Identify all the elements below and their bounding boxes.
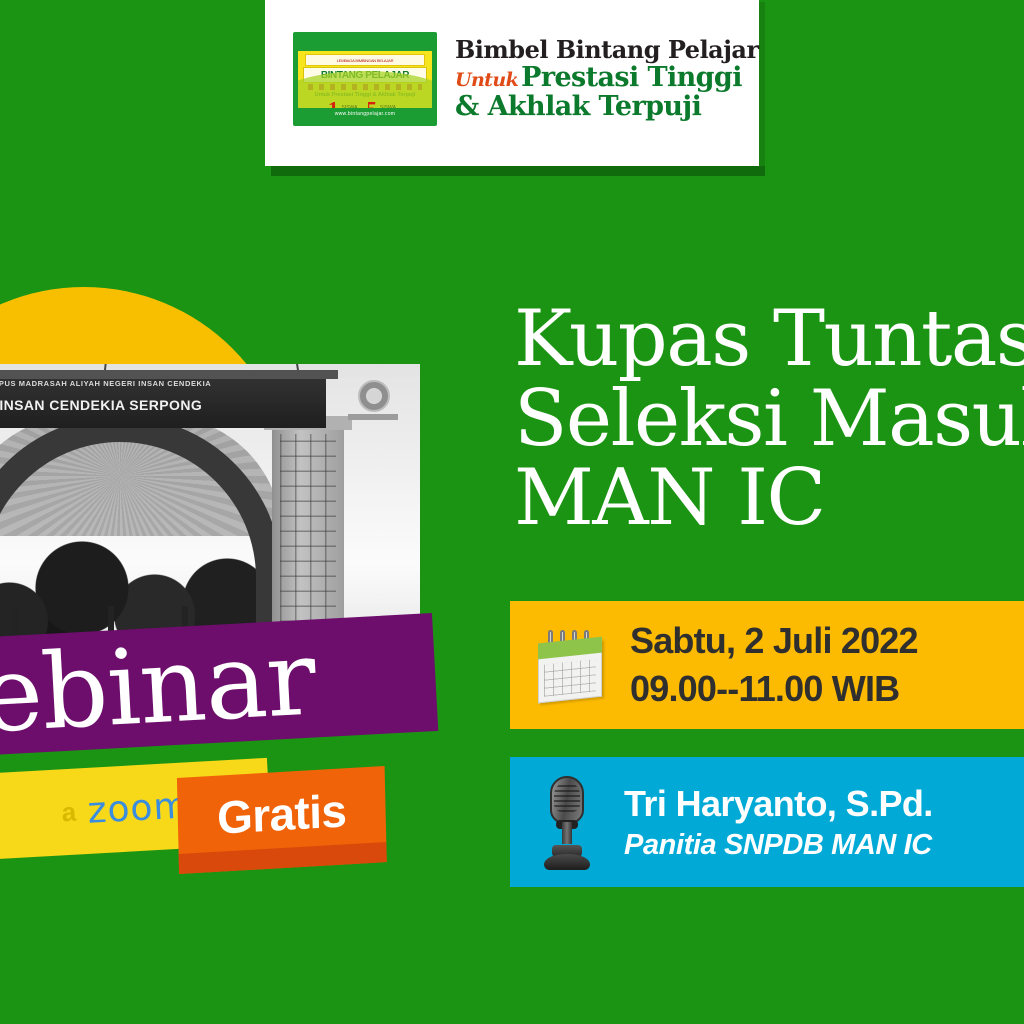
logo-top-band — [298, 37, 432, 51]
brand-header-card: LEMBAGA BIMBINGAN BELAJAR BINTANG PELAJA… — [265, 0, 759, 166]
speaker-name: Tri Haryanto, S.Pd. — [624, 783, 933, 825]
speaker-box: Tri Haryanto, S.Pd. Panitia SNPDB MAN IC — [510, 757, 1024, 887]
kemenag-emblem-icon — [358, 380, 390, 412]
calendar-icon — [534, 628, 606, 702]
photo-pillar-grid — [280, 434, 336, 622]
gratis-tag-shadow — [179, 842, 387, 874]
headline-line-3: MAN IC — [514, 459, 1024, 539]
event-date: Sabtu, 2 Juli 2022 — [630, 620, 918, 662]
brand-line-1: Bimbel Bintang Pelajar — [455, 37, 759, 63]
event-time: 09.00--11.00 WIB — [630, 668, 918, 710]
page-title: Kupas Tuntas Seleksi Masuk MAN IC — [514, 300, 1024, 539]
photo-emblem-base — [348, 414, 398, 420]
gate-main-text: MAN INSAN CENDEKIA SERPONG — [0, 397, 202, 413]
headline-line-1: Kupas Tuntas — [514, 300, 1024, 380]
gratis-tag: Gratis — [177, 766, 387, 874]
speaker-text: Tri Haryanto, S.Pd. Panitia SNPDB MAN IC — [624, 783, 933, 862]
date-time-box: Sabtu, 2 Juli 2022 09.00--11.00 WIB — [510, 601, 1024, 729]
zoom-wordmark: zoom — [86, 785, 190, 832]
mic-grille — [554, 782, 580, 812]
bintang-pelajar-logo-icon: LEMBAGA BIMBINGAN BELAJAR BINTANG PELAJA… — [293, 32, 437, 126]
headline-line-2: Seleksi Masuk — [514, 380, 1024, 460]
via-label: a — [61, 796, 77, 828]
gratis-label: Gratis — [216, 783, 346, 844]
brand-line-3: & Akhlak Terpuji — [455, 92, 759, 121]
webinar-banner: Webinar — [0, 613, 438, 764]
photo-lintel-cap — [0, 370, 338, 379]
gate-top-text: KAMPUS MADRASAH ALIYAH NEGERI INSAN CEND… — [0, 379, 211, 388]
webinar-label: Webinar — [0, 631, 317, 750]
logo-top-strip-text: LEMBAGA BIMBINGAN BELAJAR — [305, 54, 425, 66]
logo-website: www.bintangpelajar.com — [298, 108, 432, 121]
mic-neck — [562, 822, 572, 844]
date-time-text: Sabtu, 2 Juli 2022 09.00--11.00 WIB — [630, 620, 918, 710]
brand-line-2: UntukPrestasi Tinggi — [455, 63, 759, 92]
brand-line-2-main: Prestasi Tinggi — [521, 62, 742, 93]
brand-text-block: Bimbel Bintang Pelajar UntukPrestasi Tin… — [455, 37, 759, 121]
brand-line-2-script: Untuk — [455, 69, 521, 91]
speaker-role: Panitia SNPDB MAN IC — [624, 829, 933, 862]
microphone-icon — [534, 774, 600, 870]
webinar-poster: KAMPUS MADRASAH ALIYAH NEGERI INSAN CEND… — [0, 0, 1024, 1024]
calendar-grid — [544, 659, 596, 696]
mic-base — [544, 854, 590, 870]
